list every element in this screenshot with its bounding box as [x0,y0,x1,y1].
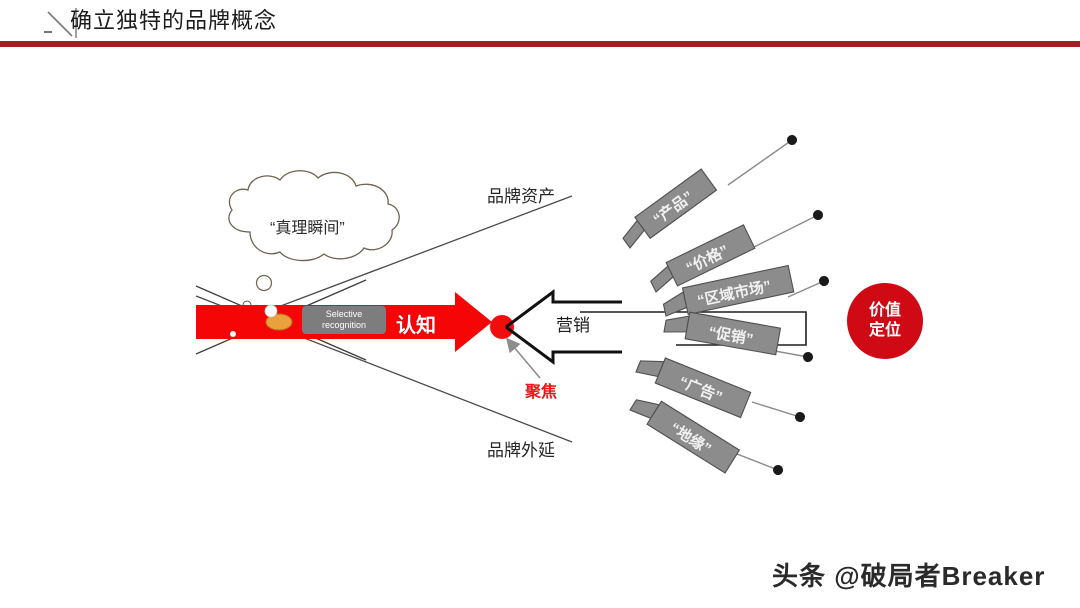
watermark: 头条 @破局者Breaker [772,556,1045,593]
focus-dot [490,315,514,339]
value-positioning-circle: 价值 定位 [847,283,923,359]
thought-cloud [229,171,399,309]
focus-label: 聚焦 [525,378,557,402]
bar-leader-lines [728,140,824,470]
value-circle-line-2: 定位 [869,321,901,341]
cognition-arrow-label: 认知 [396,309,436,338]
selective-line-2: recognition [306,320,382,331]
moment-of-truth-text: “真理瞬间” [270,214,345,238]
value-circle-line-1: 价值 [869,301,901,321]
marketing-label: 营销 [556,311,590,336]
selective-line-1: Selective [306,309,382,320]
focus-pointer [508,340,540,378]
selective-recognition-badge: Selective recognition [302,306,386,334]
brand-extension-label: 品牌外延 [487,436,555,461]
brand-asset-label: 品牌资产 [487,182,555,207]
slide-canvas: 确立独特的品牌概念 [0,0,1080,608]
